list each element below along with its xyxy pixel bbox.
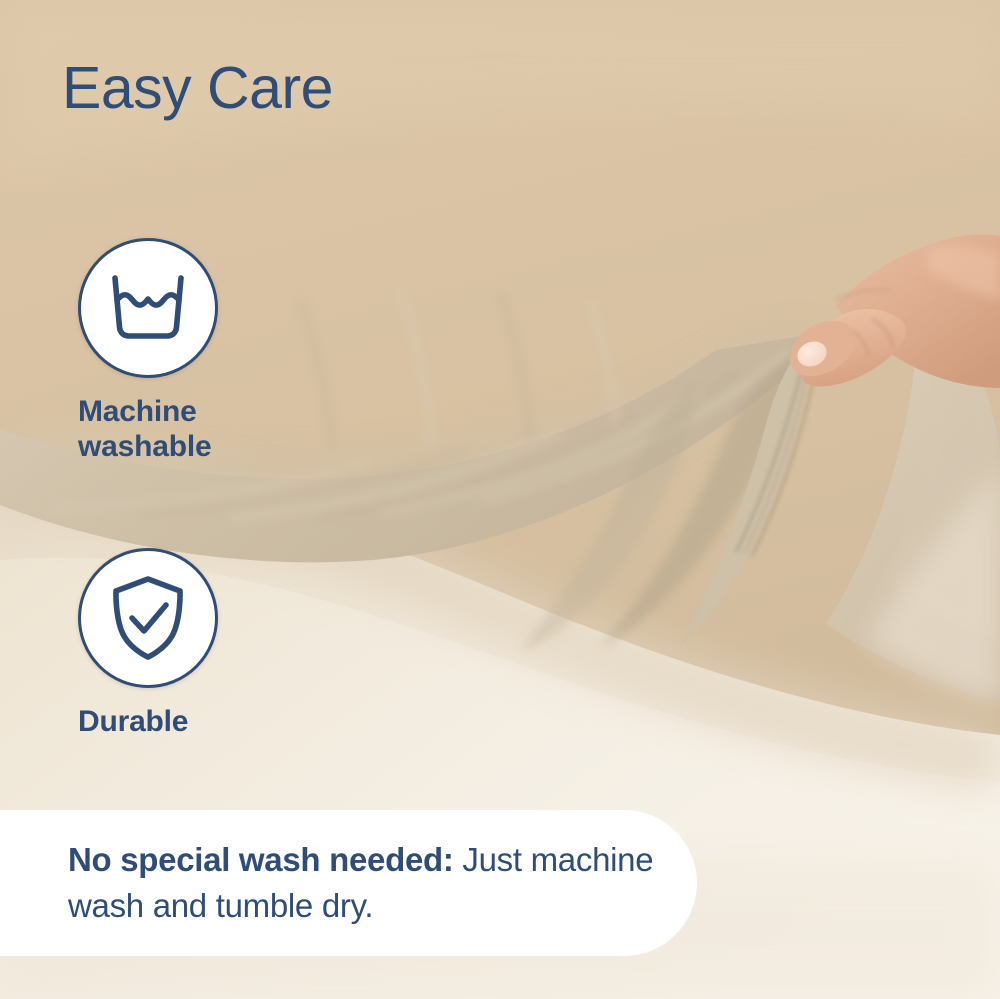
- feature-label-line: Durable: [78, 704, 278, 739]
- feature-machine-washable: Machine washable: [78, 238, 328, 464]
- feature-durable: Durable: [78, 548, 328, 739]
- page-title: Easy Care: [62, 58, 333, 120]
- wash-tub-icon-badge: [78, 238, 218, 378]
- feature-label-line: washable: [78, 429, 278, 464]
- shield-check-icon-badge: [78, 548, 218, 688]
- care-instruction-lead: No special wash needed:: [68, 841, 454, 878]
- care-instruction-banner: No special wash needed: Just machine was…: [0, 810, 697, 956]
- shield-check-icon: [108, 574, 188, 662]
- feature-label-durable: Durable: [78, 704, 278, 739]
- care-instruction-text: No special wash needed: Just machine was…: [0, 837, 697, 928]
- feature-label-line: Machine: [78, 394, 278, 429]
- wash-tub-icon: [105, 271, 191, 345]
- marketing-overlay: Easy Care Machine washable: [0, 0, 1000, 999]
- feature-label-machine-washable: Machine washable: [78, 394, 278, 464]
